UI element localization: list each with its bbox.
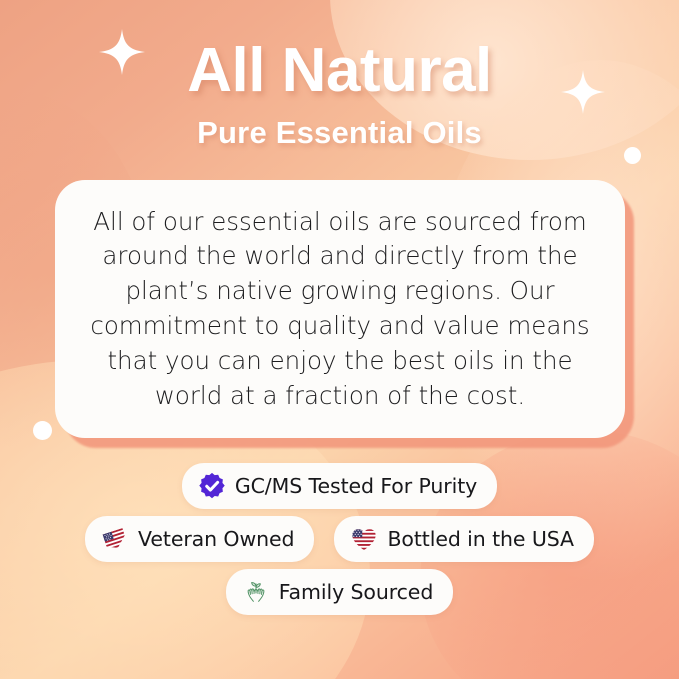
header: All Natural Pure Essential Oils xyxy=(0,38,679,151)
badge-label: Veteran Owned xyxy=(138,527,294,551)
us-flag-heart-icon xyxy=(350,525,378,553)
trust-badges: GC/MS Tested For Purity xyxy=(0,463,679,622)
hands-holding-plant-icon xyxy=(242,578,270,606)
badge-gcms-tested[interactable]: GC/MS Tested For Purity xyxy=(182,463,497,509)
badge-bottled-in-usa[interactable]: Bottled in the USA xyxy=(334,516,594,562)
badge-row-3: Family Sourced xyxy=(0,569,679,615)
decorative-dot-mid-left xyxy=(33,421,52,440)
description-card: All of our essential oils are sourced fr… xyxy=(55,180,625,438)
badge-row-2: Veteran Owned xyxy=(0,516,679,562)
description-text: All of our essential oils are sourced fr… xyxy=(81,205,599,414)
badge-veteran-owned[interactable]: Veteran Owned xyxy=(85,516,314,562)
badge-row-1: GC/MS Tested For Purity xyxy=(0,463,679,509)
badge-label: GC/MS Tested For Purity xyxy=(235,474,477,498)
page-title: All Natural xyxy=(0,38,679,103)
badge-family-sourced[interactable]: Family Sourced xyxy=(226,569,454,615)
waving-us-flag-icon xyxy=(101,525,129,553)
badge-label: Family Sourced xyxy=(279,580,434,604)
badge-label: Bottled in the USA xyxy=(387,527,574,551)
promo-graphic: All Natural Pure Essential Oils All of o… xyxy=(0,0,679,679)
verified-badge-check-icon xyxy=(198,472,226,500)
page-subtitle: Pure Essential Oils xyxy=(0,115,679,151)
